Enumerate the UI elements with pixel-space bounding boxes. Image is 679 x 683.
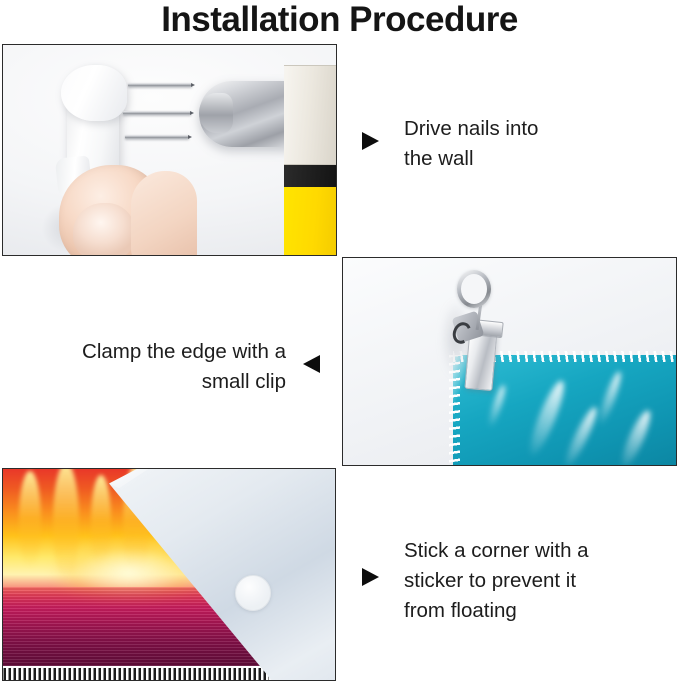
page-title: Installation Procedure	[0, 0, 679, 42]
nail-middle	[123, 111, 191, 115]
step-2-caption: Clamp the edge with a small clip	[28, 337, 286, 397]
hammer-grip-yellow	[284, 187, 337, 256]
nail-hook-head	[61, 65, 127, 121]
clip-hanging-ring	[457, 270, 491, 308]
step-1-arrow-icon	[362, 132, 379, 150]
tapestry-fringe	[2, 666, 269, 680]
step-2-image	[342, 257, 677, 466]
hammer-handle	[284, 65, 337, 165]
thumbnail-plate	[73, 203, 135, 256]
step-2-arrow-icon	[303, 355, 320, 373]
step-1-image	[2, 44, 337, 256]
step-1-caption: Drive nails into the wall	[404, 114, 659, 174]
index-finger	[131, 171, 197, 256]
step-3-caption: Stick a corner with a sticker to prevent…	[404, 536, 654, 626]
hammer-neck	[199, 93, 233, 133]
nail-bottom	[125, 135, 189, 139]
step-3-arrow-icon	[362, 568, 379, 586]
nail-top	[128, 83, 192, 87]
step-3-image	[2, 468, 336, 681]
hammer-grip-black	[284, 165, 337, 187]
wall-sticker	[235, 575, 271, 611]
